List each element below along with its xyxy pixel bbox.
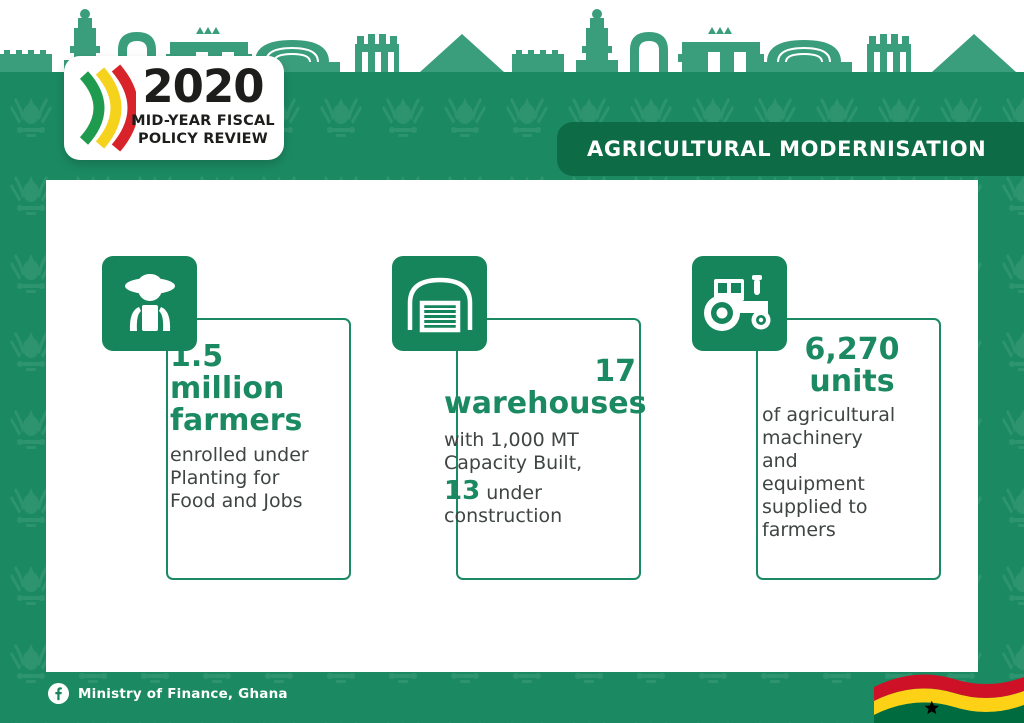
mid-year-review-logo: 2020 MID-YEAR FISCAL POLICY REVIEW [64,56,284,160]
inline-stat-number: 13 [444,476,480,506]
page-title: AGRICULTURAL MODERNISATION [587,137,986,161]
stat-value-line2: warehouses [444,388,636,420]
facebook-icon[interactable] [48,683,69,704]
logo-arc-icon [74,63,136,153]
stat-body-line2: Planting for [170,467,346,490]
footer-label: Ministry of Finance, Ghana [78,686,288,702]
tractor-icon [692,256,787,351]
stat-body-line3-wrapper: 13 under [444,480,636,505]
logo-subtitle-line2: POLICY REVIEW [128,130,278,148]
section-title-banner: AGRICULTURAL MODERNISATION [557,122,1024,176]
stat-body-line4: construction [444,505,636,528]
logo-subtitle-line1: MID-YEAR FISCAL [128,112,278,130]
card-text-block: 1.5 million farmers enrolled under Plant… [170,341,346,513]
stat-body-line1: of agricultural [762,404,942,427]
warehouse-icon [392,256,487,351]
stat-card-warehouses: 17 warehouses with 1,000 MT Capacity Bui… [392,256,642,586]
stat-value-line1: 6,270 [762,334,942,366]
stat-body-line2: machinery [762,427,942,450]
stat-body-line3: under [486,482,542,504]
stat-value-line2: units [762,366,942,398]
stat-value-line2: million [170,373,346,405]
infographic-poster: 2020 MID-YEAR FISCAL POLICY REVIEW AGRIC… [0,0,1024,723]
stat-value-line1: 1.5 [170,341,346,373]
stat-body-line3: and [762,450,942,473]
stat-body-line3: Food and Jobs [170,490,346,513]
logo-year: 2020 [128,62,278,112]
stat-body-line2: Capacity Built, [444,452,636,475]
farmer-icon [102,256,197,351]
stat-body-line6: farmers [762,519,942,542]
stat-card-machinery: 6,270 units of agricultural machinery an… [692,256,942,586]
stat-body-line5: supplied to [762,496,942,519]
card-text-block: 6,270 units of agricultural machinery an… [762,334,942,542]
card-text-block: 17 warehouses with 1,000 MT Capacity Bui… [444,356,636,528]
stat-value-line3: farmers [170,405,346,437]
logo-text-block: 2020 MID-YEAR FISCAL POLICY REVIEW [128,62,278,148]
stat-body-line1: enrolled under [170,444,346,467]
stat-body-line4: equipment [762,473,942,496]
footer: Ministry of Finance, Ghana [48,683,288,704]
stat-body-line1: with 1,000 MT [444,429,636,452]
stat-value-line1: 17 [444,356,636,388]
stat-card-farmers: 1.5 million farmers enrolled under Plant… [102,256,352,586]
ghana-flag-ribbon [874,665,1024,723]
